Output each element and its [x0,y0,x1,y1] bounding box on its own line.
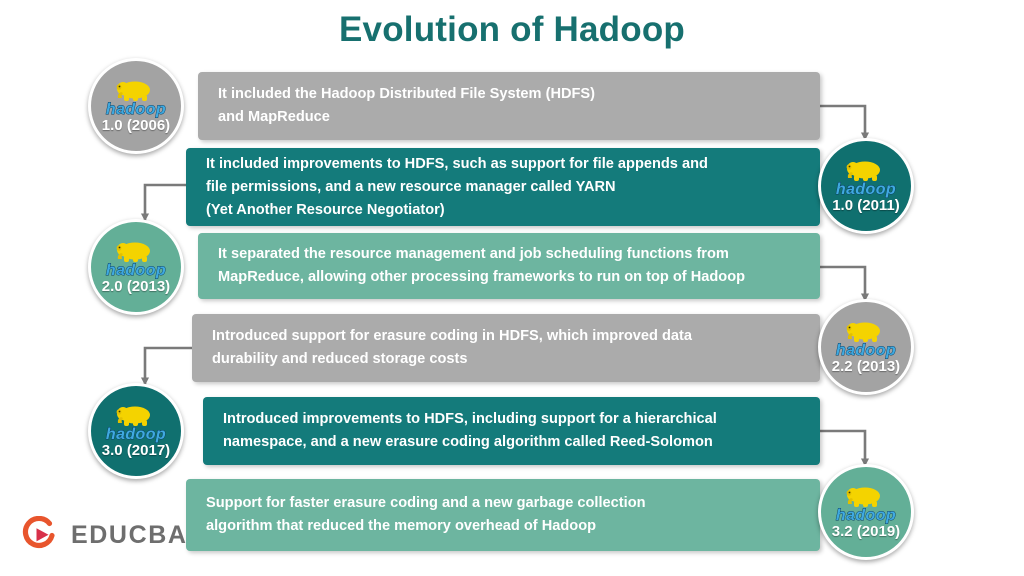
step-box-3[interactable]: It separated the resource management and… [198,233,820,299]
step-6-line-2: algorithm that reduced the memory overhe… [206,515,804,538]
step-4-line-2: durability and reduced storage costs [212,348,804,371]
arrow-step2-to-hadoop-2-0-2013 [145,185,186,221]
step-2-line-3: (Yet Another Resource Negotiator) [206,199,804,222]
hadoop-elephant-logo-icon: hadoop [99,404,173,444]
hadoop-elephant-logo-icon: hadoop [829,485,903,525]
svg-text:hadoop: hadoop [106,262,166,279]
svg-text:hadoop: hadoop [836,342,896,359]
arrow-step3-to-hadoop-2-2-2013 [820,267,865,301]
badge-hadoop-3-2-2019[interactable]: hadoop 3.2 (2019) [818,464,914,560]
arrow-step5-to-hadoop-3-2-2019 [818,431,865,466]
svg-text:hadoop: hadoop [836,507,896,524]
badge-version-label: 1.0 (2006) [102,118,170,134]
badge-version-label: 1.0 (2011) [832,198,900,214]
badge-hadoop-1-0-2011[interactable]: hadoop 1.0 (2011) [818,138,914,234]
badge-version-label: 3.2 (2019) [832,524,900,540]
badge-version-label: 2.2 (2013) [832,359,900,375]
step-6-line-1: Support for faster erasure coding and a … [206,492,804,515]
step-2-line-1: It included improvements to HDFS, such a… [206,153,804,176]
step-5-line-1: Introduced improvements to HDFS, includi… [223,408,804,431]
step-5-line-2: namespace, and a new erasure coding algo… [223,431,804,454]
arrow-step4-to-hadoop-3-0-2017 [145,348,192,385]
badge-version-label: 3.0 (2017) [102,443,170,459]
educba-wordmark: EDUCBA [71,521,188,550]
hadoop-elephant-logo-icon: hadoop [99,79,173,119]
infographic-canvas: Evolution of Hadoop It included the Hado… [0,0,1024,576]
page-title: Evolution of Hadoop [0,10,1024,50]
badge-hadoop-2-2-2013[interactable]: hadoop 2.2 (2013) [818,299,914,395]
hadoop-elephant-logo-icon: hadoop [99,240,173,280]
svg-text:hadoop: hadoop [106,426,166,443]
step-box-1[interactable]: It included the Hadoop Distributed File … [198,72,820,140]
hadoop-elephant-logo-icon: hadoop [829,159,903,199]
educba-branding[interactable]: EDUCBA [22,516,188,554]
step-box-6[interactable]: Support for faster erasure coding and a … [186,479,820,551]
badge-hadoop-1-0-2006[interactable]: hadoop 1.0 (2006) [88,58,184,154]
badge-hadoop-2-0-2013[interactable]: hadoop 2.0 (2013) [88,219,184,315]
badge-hadoop-3-0-2017[interactable]: hadoop 3.0 (2017) [88,383,184,479]
step-3-line-2: MapReduce, allowing other processing fra… [218,266,804,289]
hadoop-elephant-logo-icon: hadoop [829,320,903,360]
arrow-step1-to-hadoop-1-0-2011 [818,106,865,140]
step-4-line-1: Introduced support for erasure coding in… [212,325,804,348]
educba-circle-play-icon [22,516,60,554]
step-3-line-1: It separated the resource management and… [218,243,804,266]
step-box-5[interactable]: Introduced improvements to HDFS, includi… [203,397,820,465]
step-1-line-2: and MapReduce [218,106,804,129]
step-1-line-1: It included the Hadoop Distributed File … [218,83,804,106]
svg-text:hadoop: hadoop [106,101,166,118]
step-2-line-2: file permissions, and a new resource man… [206,176,804,199]
svg-text:hadoop: hadoop [836,181,896,198]
step-box-2[interactable]: It included improvements to HDFS, such a… [186,148,820,226]
badge-version-label: 2.0 (2013) [102,279,170,295]
step-box-4[interactable]: Introduced support for erasure coding in… [192,314,820,382]
